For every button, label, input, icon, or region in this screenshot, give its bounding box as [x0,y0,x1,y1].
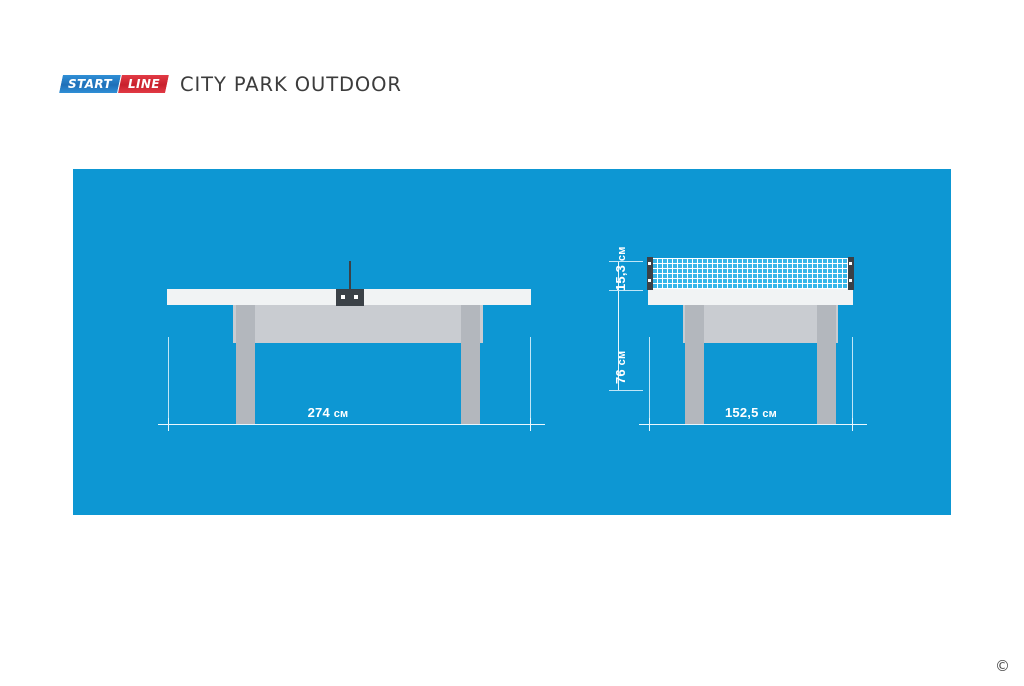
logo-start-text: START [68,78,112,90]
side-view-apron [233,305,483,343]
page-header: START LINE CITY PARK OUTDOOR [60,68,402,100]
front-view-leg-left [685,305,704,424]
front-view-apron [683,305,838,343]
front-dim-label: 152,5 см [725,405,777,420]
net-post-right-bolt-top [849,262,852,265]
front-dim-tick-right [852,418,853,431]
side-dim-ext-right [530,337,531,425]
logo-line-block: LINE [118,74,170,94]
logo-line-text: LINE [128,78,160,90]
net-post-bolt-right [354,295,358,299]
net-mesh [652,258,849,289]
front-dim-ext-right [852,337,853,425]
product-dimensions-panel: 274 см 15,3 см 76 см [73,169,951,515]
front-view-tabletop [648,289,853,305]
net-post-bolt-left [341,295,345,299]
startline-logo: START LINE [58,74,170,94]
table-height-ext-bottom [609,390,643,391]
side-dim-line [158,424,545,425]
side-view-leg-left [236,305,255,424]
net-post-clamp [336,289,364,306]
side-dim-tick-right [530,418,531,431]
front-dim-tick-left [649,418,650,431]
net-post-left [647,257,653,290]
side-dim-tick-left [168,418,169,431]
front-dim-line [639,424,867,425]
net-height-dim-label: 15,3 см [613,246,628,291]
net-post-left-bolt-top [648,262,651,265]
net-post-right-bolt-bottom [849,279,852,282]
net-post-mast [349,261,351,291]
side-dim-ext-left [168,337,169,425]
side-dim-label: 274 см [308,405,349,420]
side-view-leg-right [461,305,480,424]
front-view-leg-right [817,305,836,424]
table-height-dim-label: 76 см [613,351,628,384]
page-title: CITY PARK OUTDOOR [180,73,402,96]
net-post-right [848,257,854,290]
front-dim-ext-left [649,337,650,425]
logo-start-block: START [58,74,122,94]
copyright-icon: © [995,659,1010,674]
net-post-left-bolt-bottom [648,279,651,282]
